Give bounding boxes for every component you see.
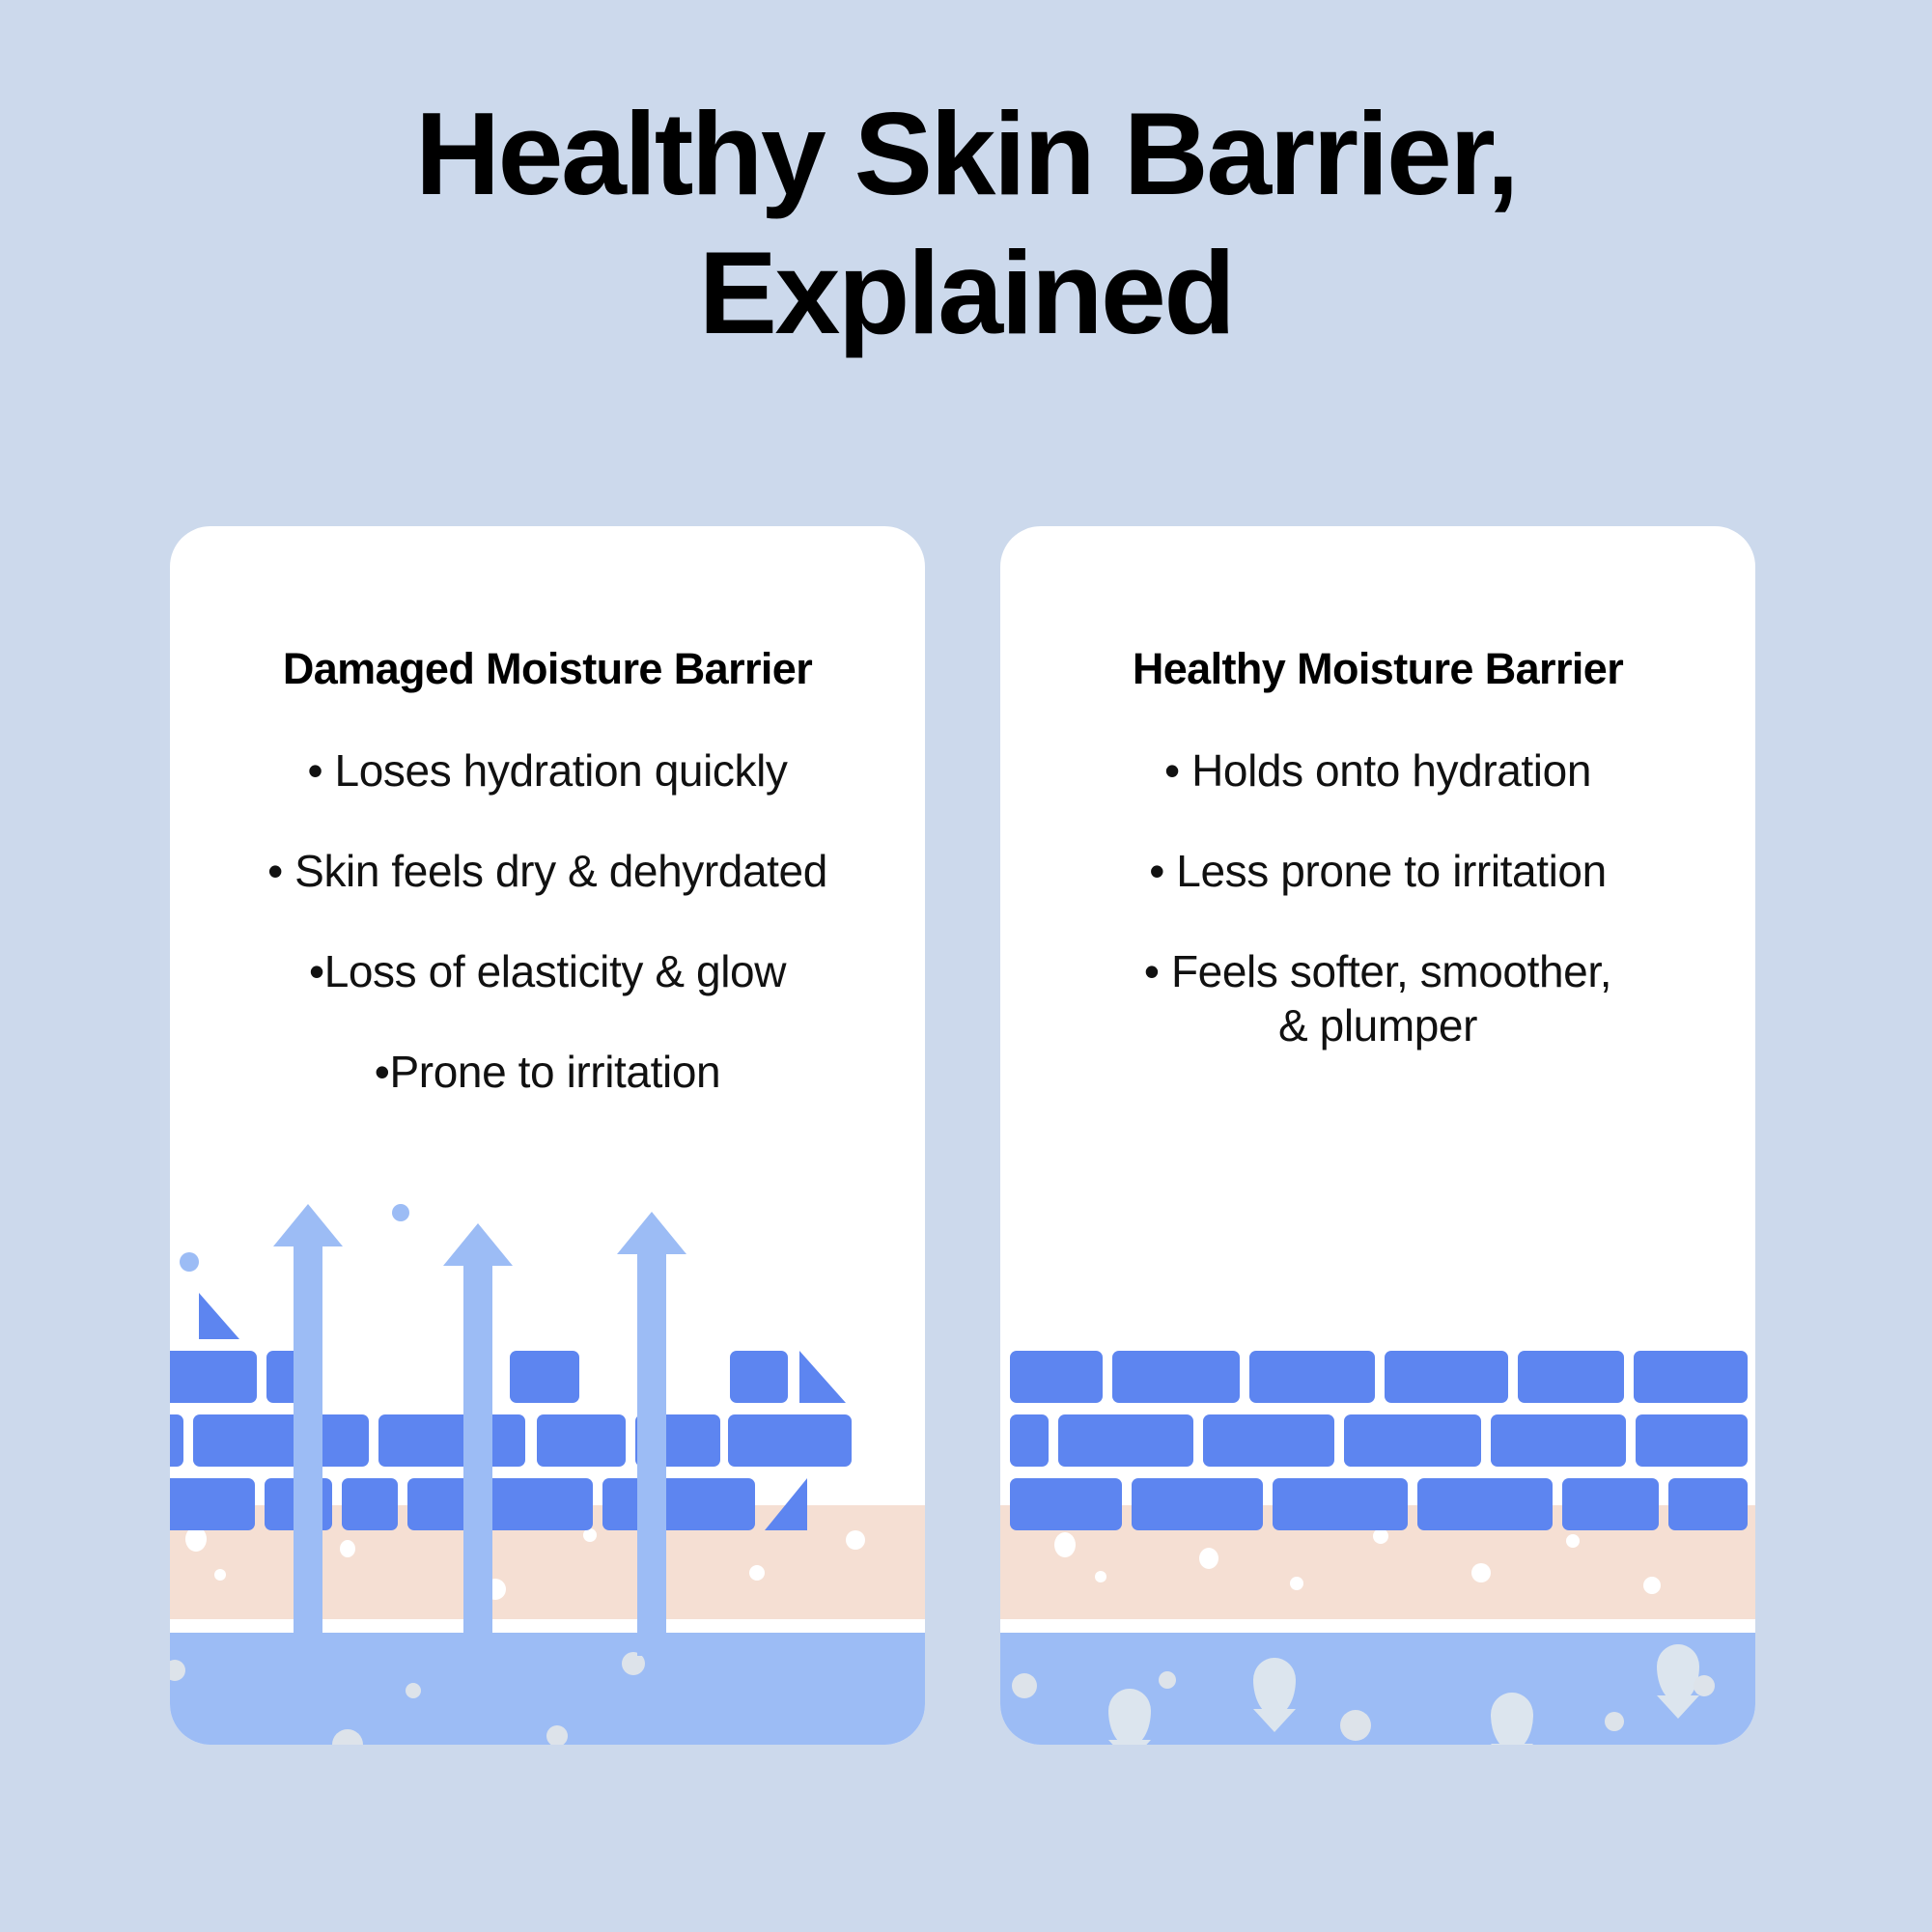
- brick: [1010, 1478, 1122, 1530]
- water-speck: [332, 1729, 363, 1745]
- moisture-speck: [1290, 1577, 1303, 1590]
- brick: [170, 1351, 257, 1403]
- brick: [1010, 1414, 1049, 1467]
- brick: [1491, 1414, 1626, 1467]
- water-speck: [1694, 1675, 1715, 1696]
- card-damaged-moisture-barrier: Damaged Moisture Barrier • Loses hydrati…: [170, 526, 925, 1745]
- brick: [1203, 1414, 1334, 1467]
- moisture-speck: [749, 1565, 765, 1581]
- water-speck: [1159, 1671, 1176, 1689]
- bullet-list-healthy: • Holds onto hydration • Less prone to i…: [1000, 743, 1755, 1099]
- brick: [537, 1414, 626, 1467]
- brick: [193, 1414, 369, 1467]
- bullet-list-damaged: • Loses hydration quickly • Skin feels d…: [170, 743, 925, 1145]
- water-loss-arrow: [294, 1241, 322, 1656]
- escaping-moisture-dot: [392, 1204, 409, 1221]
- brick: [1668, 1478, 1748, 1530]
- brick: [1385, 1351, 1508, 1403]
- brick-fragment: [199, 1293, 239, 1339]
- list-item: • Feels softer, smoother,: [1000, 944, 1755, 998]
- list-item-continuation: & plumper: [1000, 998, 1755, 1052]
- water-speck: [406, 1683, 421, 1698]
- card-heading-healthy: Healthy Moisture Barrier: [1000, 644, 1755, 694]
- water-droplet-icon: [1253, 1658, 1296, 1716]
- water-droplet-icon: [1657, 1644, 1699, 1702]
- water-speck: [1012, 1673, 1037, 1698]
- list-item: •Loss of elasticity & glow: [170, 944, 925, 998]
- dermis-layer: [1000, 1633, 1755, 1745]
- brick: [602, 1478, 755, 1530]
- list-item: •Prone to irritation: [170, 1045, 925, 1099]
- card-healthy-moisture-barrier: Healthy Moisture Barrier • Holds onto hy…: [1000, 526, 1755, 1745]
- brick: [1562, 1478, 1659, 1530]
- brick: [510, 1351, 579, 1403]
- brick: [1010, 1351, 1103, 1403]
- moisture-speck: [1054, 1532, 1076, 1557]
- brick: [1058, 1414, 1193, 1467]
- arrow-head-icon: [443, 1223, 513, 1266]
- brick: [1112, 1351, 1240, 1403]
- brick: [730, 1351, 788, 1403]
- list-item: • Loses hydration quickly: [170, 743, 925, 798]
- arrow-head-icon: [273, 1204, 343, 1246]
- water-loss-arrow: [463, 1260, 492, 1656]
- brick: [1636, 1414, 1748, 1467]
- escaping-moisture-dot: [180, 1252, 199, 1272]
- brick-wall-damaged: [170, 1330, 925, 1499]
- moisture-speck: [1643, 1577, 1661, 1594]
- water-speck: [170, 1660, 185, 1681]
- water-loss-arrow: [637, 1248, 666, 1656]
- list-item: • Holds onto hydration: [1000, 743, 1755, 798]
- list-item: • Less prone to irritation: [1000, 844, 1755, 898]
- damaged-skin-barrier-diagram: [170, 1330, 925, 1745]
- brick-fragment: [799, 1351, 846, 1403]
- brick: [728, 1414, 852, 1467]
- dermis-layer: [170, 1633, 925, 1745]
- brick: [1344, 1414, 1481, 1467]
- brick-wall-healthy: [1000, 1330, 1755, 1499]
- brick: [1417, 1478, 1553, 1530]
- brick: [170, 1478, 255, 1530]
- page-title-line-2: Explained: [0, 224, 1932, 363]
- brick: [342, 1478, 398, 1530]
- water-speck: [1605, 1712, 1624, 1731]
- moisture-speck: [1095, 1571, 1106, 1582]
- brick: [1518, 1351, 1624, 1403]
- moisture-speck: [340, 1540, 355, 1557]
- moisture-speck: [1566, 1534, 1580, 1548]
- moisture-speck: [214, 1569, 226, 1581]
- page-title: Healthy Skin Barrier, Explained: [0, 85, 1932, 363]
- card-heading-damaged: Damaged Moisture Barrier: [170, 644, 925, 694]
- page-title-line-1: Healthy Skin Barrier,: [415, 88, 1517, 219]
- brick: [1249, 1351, 1375, 1403]
- brick: [378, 1414, 525, 1467]
- brick: [1634, 1351, 1748, 1403]
- moisture-speck: [1199, 1548, 1218, 1569]
- brick: [170, 1414, 183, 1467]
- moisture-speck: [846, 1530, 865, 1550]
- water-speck: [546, 1725, 568, 1745]
- healthy-skin-barrier-diagram: [1000, 1330, 1755, 1745]
- brick: [1273, 1478, 1408, 1530]
- list-item: • Skin feels dry & dehyrdated: [170, 844, 925, 898]
- arrow-head-icon: [617, 1212, 686, 1254]
- water-droplet-icon: [1491, 1693, 1533, 1745]
- water-speck: [1340, 1710, 1371, 1741]
- moisture-speck: [583, 1528, 597, 1542]
- moisture-speck: [1471, 1563, 1491, 1582]
- water-droplet-icon: [1108, 1689, 1151, 1745]
- moisture-speck: [1373, 1528, 1388, 1544]
- brick: [407, 1478, 593, 1530]
- brick: [1132, 1478, 1263, 1530]
